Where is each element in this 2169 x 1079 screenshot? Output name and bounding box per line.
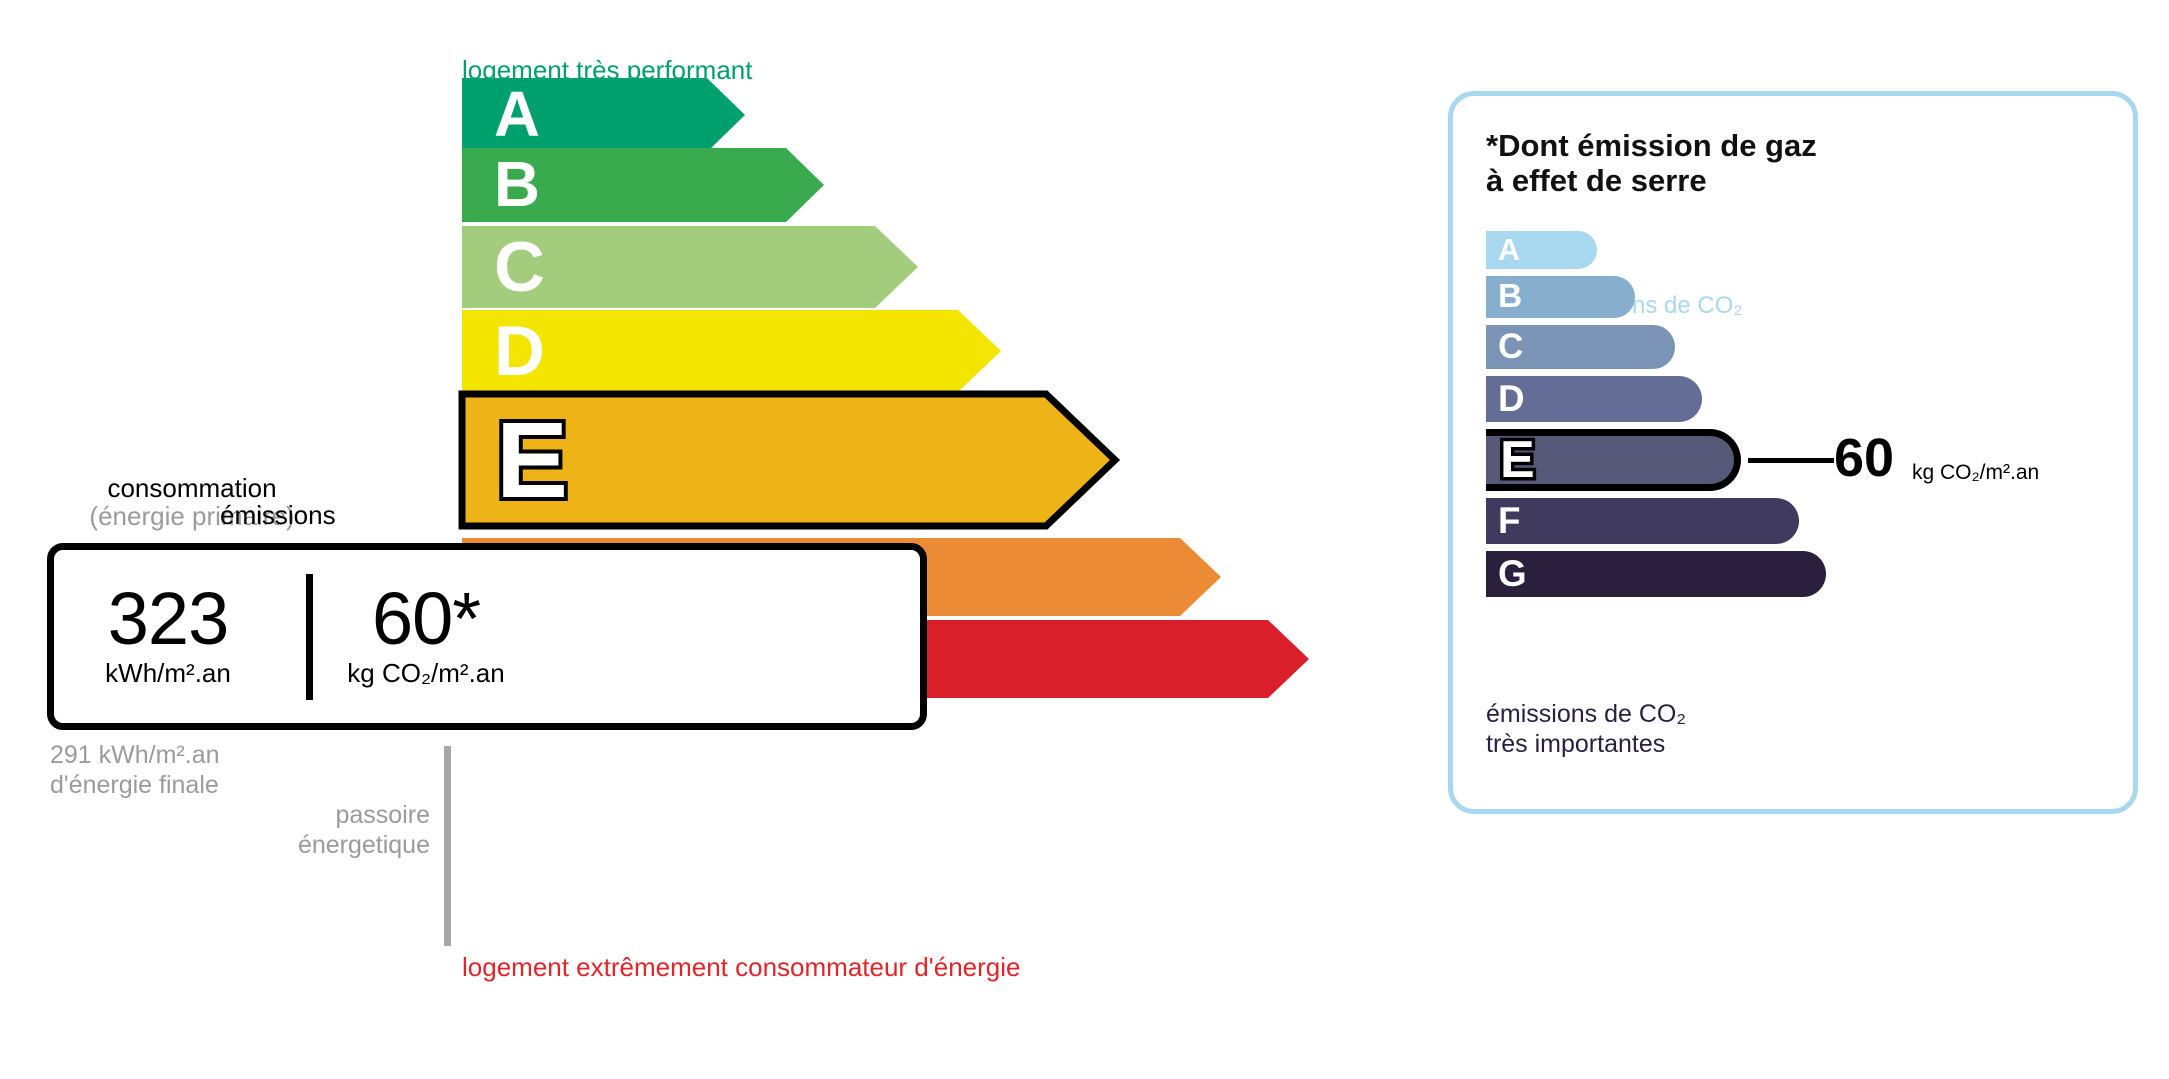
- ghg-bar-c: C: [1486, 325, 1675, 369]
- energy-class-row-b: B: [462, 148, 824, 222]
- ghg-class-letter-g: G: [1498, 556, 1527, 593]
- ghg-class-row-c: C: [1486, 325, 1675, 369]
- energy-bottom-caption: logement extrêmement consommateur d'éner…: [462, 952, 1020, 983]
- ghg-bar-e: E: [1486, 429, 1741, 491]
- energy-arrow-d: D: [462, 310, 1001, 392]
- ghg-class-row-g: G: [1486, 551, 1826, 597]
- ghg-class-row-e: E: [1486, 429, 1734, 491]
- ghg-class-letter-a: A: [1498, 235, 1520, 265]
- energy-arrow-e: E: [462, 394, 1115, 526]
- ghg-class-letter-b: B: [1498, 280, 1522, 314]
- ghg-emission-panel: *Dont émission de gaz à effet de serre p…: [1448, 91, 2138, 814]
- energy-class-letter-e: E: [496, 406, 568, 514]
- co2-emission-value: 60*: [372, 584, 480, 654]
- dpe-label: logement très performant ABCDEFG consomm…: [0, 0, 2169, 1079]
- ghg-class-row-a: A: [1486, 231, 1597, 269]
- primary-energy-value: 323: [108, 584, 228, 654]
- energy-arrow-b: B: [462, 148, 824, 222]
- consumption-label-main: consommation: [107, 473, 276, 503]
- ghg-bar-d: D: [1486, 376, 1702, 422]
- energy-arrow-c: C: [462, 226, 918, 308]
- ghg-class-row-d: D: [1486, 376, 1702, 422]
- ghg-class-letter-c: C: [1498, 329, 1523, 364]
- ghg-class-row-f: F: [1486, 498, 1799, 544]
- ghg-callout-leader-line: [1748, 458, 1834, 463]
- ghg-class-letter-d: D: [1498, 381, 1525, 418]
- energy-class-row-d: D: [462, 310, 1001, 392]
- emissions-label: émissions: [220, 500, 336, 531]
- energy-class-row-c: C: [462, 226, 918, 308]
- ghg-bar-f: F: [1486, 498, 1799, 544]
- energy-class-letter-a: A: [494, 83, 540, 147]
- ghg-class-letter-f: F: [1498, 503, 1520, 540]
- ghg-bottom-caption: émissions de CO₂ très importantes: [1486, 700, 1686, 759]
- co2-emission-cell: 60* kg CO₂/m².an: [337, 550, 515, 723]
- energy-class-letter-d: D: [494, 316, 545, 387]
- passoire-label: passoire énergetique: [120, 800, 430, 860]
- primary-energy-unit: kWh/m².an: [105, 658, 231, 689]
- energy-class-letter-b: B: [494, 153, 540, 217]
- ghg-bar-b: B: [1486, 276, 1635, 318]
- ghg-panel-title: *Dont émission de gaz à effet de serre: [1486, 128, 1817, 198]
- consumption-value-box: 323 kWh/m².an 60* kg CO₂/m².an: [47, 543, 927, 730]
- primary-energy-cell: 323 kWh/m².an: [54, 550, 282, 723]
- ghg-bar-g: G: [1486, 551, 1826, 597]
- energy-class-row-e: E: [462, 394, 1115, 526]
- value-divider: [306, 574, 313, 700]
- ghg-class-letter-e: E: [1500, 434, 1535, 486]
- passoire-divider-rule: [444, 746, 451, 946]
- ghg-class-row-b: B: [1486, 276, 1635, 318]
- ghg-bar-a: A: [1486, 231, 1597, 269]
- energy-class-row-a: A: [462, 78, 745, 152]
- energy-arrow-a: A: [462, 78, 745, 152]
- final-energy-note: 291 kWh/m².an d'énergie finale: [50, 740, 220, 800]
- co2-emission-unit: kg CO₂/m².an: [347, 658, 504, 689]
- ghg-callout-unit: kg CO₂/m².an: [1912, 462, 2039, 483]
- ghg-callout-value: 60: [1834, 431, 1894, 485]
- energy-class-letter-c: C: [494, 232, 545, 303]
- energy-performance-panel: logement très performant ABCDEFG consomm…: [0, 0, 1380, 1079]
